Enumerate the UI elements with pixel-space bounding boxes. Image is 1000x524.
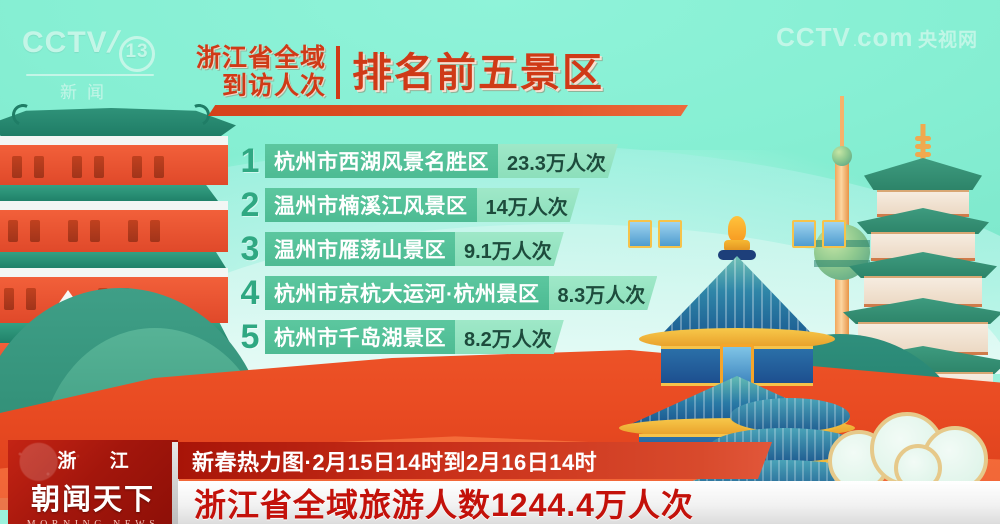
title-left-block: 浙江省全域 到访人次 bbox=[196, 46, 340, 99]
cctv-com-watermark: CCTV.com 央视网 bbox=[776, 22, 978, 53]
scenic-area-name: 杭州市西湖风景名胜区 bbox=[265, 144, 498, 178]
lower-third-banner: 浙 江 朝闻天下 MORNING NEWS 新春热力图·2月15日14时到2月1… bbox=[0, 440, 1000, 524]
channel-number: 13 bbox=[119, 36, 155, 72]
visitor-count-value: 9.1万人次 bbox=[455, 232, 564, 266]
program-logo-block: 浙 江 朝闻天下 MORNING NEWS bbox=[8, 440, 178, 524]
visitor-count-value: 23.3万人次 bbox=[498, 144, 618, 178]
scenic-area-name: 温州市楠溪江风景区 bbox=[265, 188, 477, 222]
watermark-cctv: CCTV bbox=[776, 22, 851, 52]
banner-headline-bar: 浙江省全域旅游人数1244.4万人次 bbox=[178, 481, 1000, 524]
program-name-cn: 朝闻天下 bbox=[8, 476, 178, 518]
list-item: 2 温州市楠溪江风景区 14万人次 bbox=[238, 186, 758, 224]
scenic-area-name: 杭州市千岛湖景区 bbox=[265, 320, 455, 354]
watermark-com: com bbox=[857, 22, 913, 52]
banner-headline: 浙江省全域旅游人数1244.4万人次 bbox=[194, 480, 694, 524]
cctv13-channel-logo: CCTV/13 新闻 bbox=[22, 26, 182, 88]
cctv-wordmark: CCTV bbox=[22, 26, 108, 59]
channel-name-cn: 新闻 bbox=[60, 78, 182, 103]
title-left-line1: 浙江省全域 bbox=[196, 46, 326, 71]
rank-number: 3 bbox=[238, 232, 262, 266]
banner-subtitle: 新春热力图·2月15日14时到2月16日14时 bbox=[192, 445, 597, 477]
scenic-area-name: 温州市雁荡山景区 bbox=[265, 232, 455, 266]
list-item: 4 杭州市京杭大运河·杭州景区 8.3万人次 bbox=[238, 274, 758, 312]
broadcast-screenshot: CCTV/13 新闻 CCTV.com 央视网 浙江省全域 到访人次 排名前五景… bbox=[0, 0, 1000, 524]
rank-number: 1 bbox=[238, 144, 262, 178]
rank-number: 4 bbox=[238, 276, 262, 310]
banner-subtitle-bar: 新春热力图·2月15日14时到2月16日14时 bbox=[178, 442, 772, 479]
visitor-count-value: 14万人次 bbox=[477, 188, 580, 222]
logo-divider bbox=[26, 74, 154, 76]
title-main: 排名前五景区 bbox=[352, 53, 604, 93]
infographic-title: 浙江省全域 到访人次 排名前五景区 bbox=[196, 46, 716, 116]
visitor-count-value: 8.2万人次 bbox=[455, 320, 564, 354]
title-left-line2: 到访人次 bbox=[222, 74, 326, 99]
province-label: 浙 江 bbox=[8, 440, 178, 473]
watermark-cn: 央视网 bbox=[918, 30, 978, 51]
title-underline-bar bbox=[208, 105, 688, 116]
rank-number: 5 bbox=[238, 320, 262, 354]
list-item: 5 杭州市千岛湖景区 8.2万人次 bbox=[238, 318, 758, 356]
rank-number: 2 bbox=[238, 188, 262, 222]
ranking-list: 1 杭州市西湖风景名胜区 23.3万人次 2 温州市楠溪江风景区 14万人次 3… bbox=[238, 142, 758, 362]
visitor-count-value: 8.3万人次 bbox=[549, 276, 658, 310]
scenic-area-name: 杭州市京杭大运河·杭州景区 bbox=[265, 276, 549, 310]
list-item: 3 温州市雁荡山景区 9.1万人次 bbox=[238, 230, 758, 268]
program-name-en: MORNING NEWS bbox=[8, 519, 178, 524]
list-item: 1 杭州市西湖风景名胜区 23.3万人次 bbox=[238, 142, 758, 180]
